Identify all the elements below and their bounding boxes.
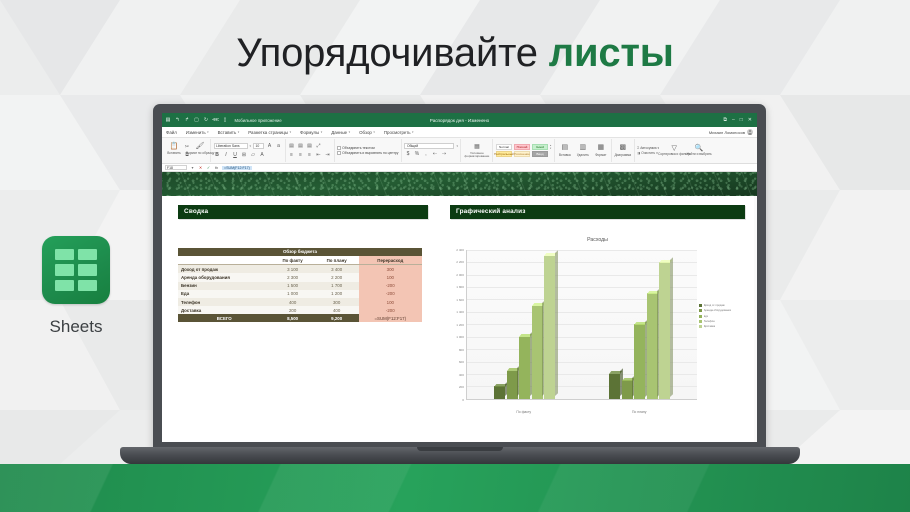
section-header-summary: Сводка bbox=[178, 205, 428, 219]
delete-cells-icon: ▥ bbox=[579, 144, 586, 152]
font-color-icon[interactable]: A bbox=[259, 151, 266, 158]
tab-review[interactable]: Обзор▾ bbox=[359, 130, 375, 135]
window-title: Распорядок дня - Изменено bbox=[162, 118, 757, 123]
cell-over: -200 bbox=[359, 282, 422, 290]
chart-pane: Графический анализ Расходы 0 200 400 600… bbox=[450, 205, 745, 427]
table-row[interactable]: Еда 1 000 1 200 -200 bbox=[178, 290, 422, 298]
cut-icon[interactable]: ✂ bbox=[184, 144, 191, 151]
legend-swatch bbox=[699, 320, 702, 323]
window-controls[interactable]: ⧉ – □ ✕ bbox=[723, 117, 754, 123]
sheets-cell bbox=[55, 264, 74, 275]
total-over-formula[interactable]: =SUM(F12:F17) bbox=[359, 314, 422, 322]
cell-style-neutral[interactable]: Нейтральный bbox=[496, 151, 512, 157]
tab-insert[interactable]: Вставить▾ bbox=[218, 130, 240, 135]
legend-item: Телефон bbox=[699, 320, 745, 323]
sheets-cell bbox=[78, 249, 97, 260]
chevron-down-icon[interactable]: ▾ bbox=[190, 165, 195, 170]
y-tick: 800 bbox=[459, 348, 464, 352]
styles-scroll-up-icon[interactable]: ▴▾ bbox=[550, 144, 551, 150]
total-fact: 8,500 bbox=[271, 314, 315, 322]
bar-fact-rent[interactable] bbox=[507, 371, 518, 399]
tab-label: Формулы bbox=[300, 130, 319, 135]
y-tick: 1 600 bbox=[456, 298, 464, 302]
decrease-decimal-icon[interactable]: ⇢ bbox=[440, 151, 447, 158]
legend-swatch bbox=[699, 325, 702, 328]
wrap-text-label: Объединить текстом bbox=[342, 146, 375, 150]
y-tick: 200 bbox=[459, 385, 464, 389]
bar-face bbox=[494, 386, 505, 398]
y-tick: 1 400 bbox=[456, 310, 464, 314]
cell-over: 100 bbox=[359, 273, 422, 281]
paintbrush-icon: 🖌 bbox=[196, 143, 205, 151]
bar-face bbox=[532, 306, 543, 399]
tab-label: Просмотреть bbox=[384, 130, 411, 135]
paste-button[interactable]: 📋 Вставить bbox=[167, 143, 182, 156]
column-header-blank bbox=[178, 256, 271, 265]
table-title-row: Обзор бюджета bbox=[178, 248, 422, 256]
chevron-down-icon[interactable]: ▾ bbox=[250, 144, 252, 148]
tab-label: Данные bbox=[331, 130, 347, 135]
ribbon-group-font: Liberation Sans ▾ 10 A a B I U ⊞ ▱ A bbox=[211, 139, 286, 162]
font-name-input[interactable]: Liberation Sans bbox=[214, 143, 248, 149]
y-tick: 1 000 bbox=[456, 335, 464, 339]
comma-icon[interactable]: , bbox=[422, 151, 429, 158]
column-header-over: Перерасход bbox=[359, 256, 422, 265]
chart-y-axis: 0 200 400 600 800 1 000 1 200 1 400 1 60… bbox=[450, 250, 465, 400]
ribbon-group-alignment: ▤ ▤ ▤ ⤢ ≡ ≡ ≡ ⇤ ⇥ bbox=[286, 139, 335, 162]
find-select-label: Найти и выбрать bbox=[687, 153, 712, 156]
ribbon-group-chart: ▩ Диаграмма bbox=[612, 139, 635, 162]
align-right-icon[interactable]: ≡ bbox=[306, 151, 313, 158]
italic-button[interactable]: I bbox=[223, 151, 230, 158]
y-tick: 1 800 bbox=[456, 285, 464, 289]
ribbon-group-clipboard: 📋 Вставить ✂ ⧉ 🖌 Формат по образцу bbox=[164, 139, 211, 162]
x-tick-fact: По факту bbox=[466, 410, 582, 414]
row-label: Доход от продаж bbox=[178, 265, 271, 274]
chevron-down-icon: ▾ bbox=[373, 130, 375, 134]
clipboard-icon: 📋 bbox=[170, 143, 179, 151]
bar-plan-phone[interactable] bbox=[647, 293, 658, 399]
bar-side bbox=[670, 257, 673, 396]
bar-face bbox=[609, 374, 620, 399]
user-account[interactable]: Михаил Ломоносов bbox=[709, 129, 753, 135]
sheets-cell bbox=[78, 264, 97, 275]
column-header-plan: По плану bbox=[315, 256, 359, 265]
cell-fact: 1 500 bbox=[271, 282, 315, 290]
legend-label: Телефон bbox=[704, 320, 715, 323]
table-row[interactable]: Доставка 200 400 -200 bbox=[178, 306, 422, 314]
cell-over: 100 bbox=[359, 298, 422, 306]
ribbon-group-editing: Σ Автосумма ▾ ◨ Очистить ▾ ▽ bbox=[635, 139, 712, 162]
bar-face bbox=[622, 380, 633, 399]
laptop-mockup: ▤ ↰ ↱ ▢ ↻ ⋘ ▯ Мобильное приложение Распо… bbox=[120, 104, 800, 464]
cell-fact: 200 bbox=[271, 306, 315, 314]
total-plan: 9,200 bbox=[315, 314, 359, 322]
bar-fact-phone[interactable] bbox=[532, 306, 543, 399]
bar-face bbox=[659, 262, 670, 399]
sort-filter-label: Сортировка и фильтр bbox=[658, 153, 690, 156]
tab-label: Разметка страницы bbox=[248, 130, 288, 135]
page-title: Упорядочивайте листы bbox=[0, 31, 910, 76]
cell-plan: 400 bbox=[315, 306, 359, 314]
y-tick: 2 200 bbox=[456, 260, 464, 264]
bar-group-fact bbox=[467, 250, 582, 399]
align-top-icon[interactable]: ▤ bbox=[288, 143, 295, 150]
user-name: Михаил Ломоносов bbox=[709, 130, 745, 135]
y-tick: 0 bbox=[462, 398, 464, 402]
autosum-label: Автосумма bbox=[640, 146, 656, 150]
table-row[interactable]: Аренда оборудования 2 300 2 200 100 bbox=[178, 273, 422, 281]
checkbox-icon bbox=[337, 146, 341, 150]
ribbon-toolbar[interactable]: 📋 Вставить ✂ ⧉ 🖌 Формат по образцу bbox=[162, 138, 757, 164]
legend-item: Доход от продаж bbox=[699, 304, 745, 307]
tab-label: Вставить bbox=[218, 130, 237, 135]
clear-label: Очистить bbox=[641, 151, 655, 155]
align-bottom-icon[interactable]: ▤ bbox=[306, 143, 313, 150]
y-tick: 400 bbox=[459, 373, 464, 377]
table-row[interactable]: Бензин 1 500 1 700 -200 bbox=[178, 282, 422, 290]
cell-fact: 1 000 bbox=[271, 290, 315, 298]
currency-icon[interactable]: $ bbox=[404, 151, 411, 158]
cancel-icon[interactable]: ✕ bbox=[198, 165, 203, 170]
conditional-format-label: Условное форматирование bbox=[464, 152, 490, 159]
x-tick-plan: По плану bbox=[582, 410, 698, 414]
bar-group-plan bbox=[582, 250, 697, 399]
legend-swatch bbox=[699, 304, 702, 307]
bar-fact-delivery[interactable] bbox=[544, 256, 555, 399]
legend-label: Доход от продаж bbox=[704, 304, 725, 307]
ribbon-group-wrap: Объединить текстом Объединить и выровнят… bbox=[335, 139, 402, 162]
avatar[interactable] bbox=[747, 129, 753, 135]
orientation-icon[interactable]: ⤢ bbox=[315, 143, 322, 150]
bar-side bbox=[555, 251, 558, 396]
font-size-input[interactable]: 10 bbox=[253, 143, 264, 149]
checkbox-icon bbox=[337, 151, 341, 155]
bar-face bbox=[519, 337, 530, 399]
tab-view[interactable]: Просмотреть▾ bbox=[384, 130, 414, 135]
clear-button[interactable]: ◨ Очистить ▾ bbox=[637, 151, 659, 155]
chart-label: Диаграмма bbox=[614, 153, 631, 157]
restore-icon[interactable]: ⧉ bbox=[723, 117, 727, 123]
chevron-down-icon: ▾ bbox=[658, 146, 660, 150]
tab-data[interactable]: Данные▾ bbox=[331, 130, 350, 135]
y-tick: 2 400 bbox=[456, 248, 464, 252]
sum-icon: Σ bbox=[637, 146, 639, 150]
tab-label: Файл bbox=[166, 130, 177, 135]
format-cells-icon: ▦ bbox=[597, 144, 604, 152]
legend-item: Аренда оборудования bbox=[699, 309, 745, 312]
banner-image bbox=[162, 172, 757, 196]
bar-fact-food[interactable] bbox=[519, 337, 530, 399]
expenses-chart[interactable]: Расходы 0 200 400 600 800 1 000 1 200 bbox=[450, 237, 745, 427]
chart-button[interactable]: ▩ Диаграмма bbox=[614, 144, 631, 157]
merge-center-label: Объединить и выровнять по центру bbox=[342, 151, 398, 155]
tab-label: Изменить bbox=[186, 130, 206, 135]
bold-button[interactable]: B bbox=[214, 151, 221, 158]
increase-indent-icon[interactable]: ⇥ bbox=[324, 151, 331, 158]
cell-style-note[interactable]: Пояснение bbox=[514, 151, 530, 157]
cell-plan: 3 400 bbox=[315, 265, 359, 274]
formula-input[interactable]: =SUM(F12:F17) bbox=[222, 166, 252, 170]
laptop-lid: ▤ ↰ ↱ ▢ ↻ ⋘ ▯ Мобильное приложение Распо… bbox=[153, 104, 766, 454]
maximize-icon[interactable]: □ bbox=[740, 117, 743, 123]
percent-icon[interactable]: % bbox=[413, 151, 420, 158]
window-titlebar: ▤ ↰ ↱ ▢ ↻ ⋘ ▯ Мобильное приложение Распо… bbox=[162, 113, 757, 127]
insert-cells-label: Вставка bbox=[559, 153, 571, 157]
chart-legend: Доход от продаж Аренда оборудования Еда … bbox=[699, 304, 745, 331]
bar-plan-rent[interactable] bbox=[622, 380, 633, 399]
minimize-icon[interactable]: – bbox=[732, 117, 735, 123]
increase-decimal-icon[interactable]: ⇠ bbox=[431, 151, 438, 158]
bar-face bbox=[544, 256, 555, 399]
borders-icon[interactable]: ⊞ bbox=[241, 151, 248, 158]
y-tick: 1 200 bbox=[456, 323, 464, 327]
column-header-fact: По факту bbox=[271, 256, 315, 265]
headline-accent: листы bbox=[549, 31, 674, 75]
tab-formulas[interactable]: Формулы▾ bbox=[300, 130, 322, 135]
close-icon[interactable]: ✕ bbox=[748, 117, 752, 123]
headline-plain: Упорядочивайте bbox=[236, 31, 549, 75]
ribbon-group-number: Общий ▾ $ % , ⇠ ⇢ bbox=[402, 139, 462, 162]
chevron-down-icon[interactable]: ▾ bbox=[456, 144, 458, 148]
legend-item: Доставка bbox=[699, 325, 745, 328]
fx-icon[interactable]: fx bbox=[214, 165, 219, 170]
fill-color-icon[interactable]: ▱ bbox=[250, 151, 257, 158]
chevron-down-icon: ▾ bbox=[412, 130, 414, 134]
shrink-font-icon[interactable]: a bbox=[275, 143, 282, 150]
cell-style-input[interactable]: Ввод bbox=[532, 151, 548, 157]
ribbon-group-cells: ▤ Вставка ▥ Удалить ▦ Формат bbox=[555, 139, 612, 162]
chart-icon: ▩ bbox=[619, 144, 626, 152]
cell-over: 300 bbox=[359, 265, 422, 274]
vertical-scrollbar[interactable] bbox=[754, 196, 757, 442]
legend-label: Еда bbox=[704, 315, 709, 318]
paste-label: Вставить bbox=[167, 151, 181, 155]
format-cells-button[interactable]: ▦ Формат bbox=[593, 144, 608, 157]
tab-page-layout[interactable]: Разметка страницы▾ bbox=[248, 130, 291, 135]
budget-table[interactable]: Обзор бюджета По факту По плану Перерасх… bbox=[178, 248, 422, 323]
green-footer-band bbox=[0, 464, 910, 512]
table-total-row[interactable]: ВСЕГО 8,500 9,200 =SUM(F12:F17) bbox=[178, 314, 422, 322]
sheets-cell bbox=[78, 280, 97, 291]
cell-over: -200 bbox=[359, 306, 422, 314]
delete-cells-label: Удалить bbox=[577, 153, 589, 157]
chevron-down-icon: ▾ bbox=[238, 130, 240, 134]
name-box[interactable]: F18 bbox=[165, 165, 187, 171]
align-left-icon[interactable]: ≡ bbox=[288, 151, 295, 158]
row-label: Аренда оборудования bbox=[178, 273, 271, 281]
underline-button[interactable]: U bbox=[232, 151, 239, 158]
row-label: Доставка bbox=[178, 306, 271, 314]
insert-cells-button[interactable]: ▤ Вставка bbox=[557, 144, 572, 157]
ribbon-group-cell-styles: Normal Плохой Good ▴▾ Нейтральный Поясне… bbox=[493, 139, 554, 162]
align-center-icon[interactable]: ≡ bbox=[297, 151, 304, 158]
bar-face bbox=[647, 293, 658, 399]
cell-plan: 1 200 bbox=[315, 290, 359, 298]
laptop-screen: ▤ ↰ ↱ ▢ ↻ ⋘ ▯ Мобильное приложение Распо… bbox=[162, 113, 757, 442]
row-label: Бензин bbox=[178, 282, 271, 290]
tab-label: Обзор bbox=[359, 130, 372, 135]
delete-cells-button[interactable]: ▥ Удалить bbox=[575, 144, 590, 157]
bar-plan-food[interactable] bbox=[634, 324, 645, 399]
decrease-indent-icon[interactable]: ⇤ bbox=[315, 151, 322, 158]
insert-cells-icon: ▤ bbox=[561, 144, 568, 152]
section-header-chart: Графический анализ bbox=[450, 205, 745, 219]
cell-style-bad[interactable]: Плохой bbox=[514, 144, 530, 150]
laptop-base bbox=[120, 447, 800, 464]
align-middle-icon[interactable]: ▤ bbox=[297, 143, 304, 150]
formula-bar[interactable]: F18 ▾ ✕ ✓ fx =SUM(F12:F17) bbox=[162, 164, 757, 172]
tab-edit[interactable]: Изменить▾ bbox=[186, 130, 209, 135]
table-header-row: По факту По плану Перерасход bbox=[178, 256, 422, 265]
sheets-grid-icon bbox=[42, 236, 110, 304]
cell-fact: 3 100 bbox=[271, 265, 315, 274]
budget-table-title: Обзор бюджета bbox=[178, 248, 422, 256]
summary-pane: Сводка Обзор бюджета По факту По плану П… bbox=[178, 205, 428, 427]
chart-x-axis: По факту По плану bbox=[466, 410, 697, 414]
legend-swatch bbox=[699, 315, 702, 318]
autosum-button[interactable]: Σ Автосумма ▾ bbox=[637, 146, 659, 150]
accept-icon[interactable]: ✓ bbox=[206, 165, 211, 170]
format-cells-label: Формат bbox=[595, 153, 606, 157]
legend-swatch bbox=[699, 309, 702, 312]
bar-plan-sales[interactable] bbox=[609, 374, 620, 399]
row-label: Еда bbox=[178, 290, 271, 298]
chart-title: Расходы bbox=[450, 237, 745, 243]
chevron-down-icon: ▾ bbox=[207, 130, 209, 134]
bar-face bbox=[634, 324, 645, 399]
cell-over: -200 bbox=[359, 290, 422, 298]
chart-bar-groups bbox=[467, 250, 697, 399]
bar-face bbox=[507, 371, 518, 399]
y-tick: 2 000 bbox=[456, 273, 464, 277]
sort-filter-button[interactable]: ▽ Сортировка и фильтр bbox=[663, 145, 685, 157]
format-painter-button[interactable]: 🖌 Формат по образцу bbox=[193, 143, 208, 156]
ribbon-tabs[interactable]: Файл Изменить▾ Вставить▾ Разметка страни… bbox=[162, 127, 757, 138]
chevron-down-icon: ▾ bbox=[349, 130, 351, 134]
conditional-format-icon[interactable]: ▦ bbox=[474, 143, 480, 150]
grow-font-icon[interactable]: A bbox=[266, 143, 273, 150]
cell-style-normal[interactable]: Normal bbox=[496, 144, 512, 150]
cell-plan: 2 200 bbox=[315, 273, 359, 281]
cell-fact: 2 300 bbox=[271, 273, 315, 281]
find-select-button[interactable]: 🔍 Найти и выбрать bbox=[689, 145, 709, 157]
table-row[interactable]: Телефон 400 300 100 bbox=[178, 298, 422, 306]
chevron-down-icon: ▾ bbox=[290, 130, 292, 134]
bar-fact-sales[interactable] bbox=[494, 386, 505, 398]
row-label: Телефон bbox=[178, 298, 271, 306]
sheets-label: Sheets bbox=[41, 317, 111, 337]
cell-fact: 400 bbox=[271, 298, 315, 306]
table-row[interactable]: Доход от продаж 3 100 3 400 300 bbox=[178, 265, 422, 274]
chevron-down-icon: ▾ bbox=[321, 130, 323, 134]
bar-plan-delivery[interactable] bbox=[659, 262, 670, 399]
merge-center-checkbox[interactable]: Объединить и выровнять по центру bbox=[337, 151, 398, 155]
clear-icon: ◨ bbox=[637, 151, 640, 155]
sheets-cell bbox=[55, 280, 74, 291]
legend-label: Аренда оборудования bbox=[704, 309, 732, 312]
cell-plan: 1 700 bbox=[315, 282, 359, 290]
sheets-product-block: Sheets bbox=[41, 236, 111, 337]
ribbon-group-conditional: ▦ Условное форматирование bbox=[461, 139, 493, 162]
cell-plan: 300 bbox=[315, 298, 359, 306]
legend-label: Доставка bbox=[704, 325, 716, 328]
y-tick: 600 bbox=[459, 360, 464, 364]
worksheet-area[interactable]: Сводка Обзор бюджета По факту По плану П… bbox=[162, 196, 757, 442]
legend-item: Еда bbox=[699, 315, 745, 318]
chart-plot-area bbox=[466, 250, 697, 400]
cell-style-good[interactable]: Good bbox=[532, 144, 548, 150]
wrap-text-checkbox[interactable]: Объединить текстом bbox=[337, 146, 375, 150]
tab-file[interactable]: Файл bbox=[166, 130, 177, 135]
sheets-cell bbox=[55, 249, 74, 260]
total-label: ВСЕГО bbox=[178, 314, 271, 322]
number-format-select[interactable]: Общий bbox=[404, 143, 454, 149]
format-painter-label: Формат по образцу bbox=[186, 151, 215, 155]
